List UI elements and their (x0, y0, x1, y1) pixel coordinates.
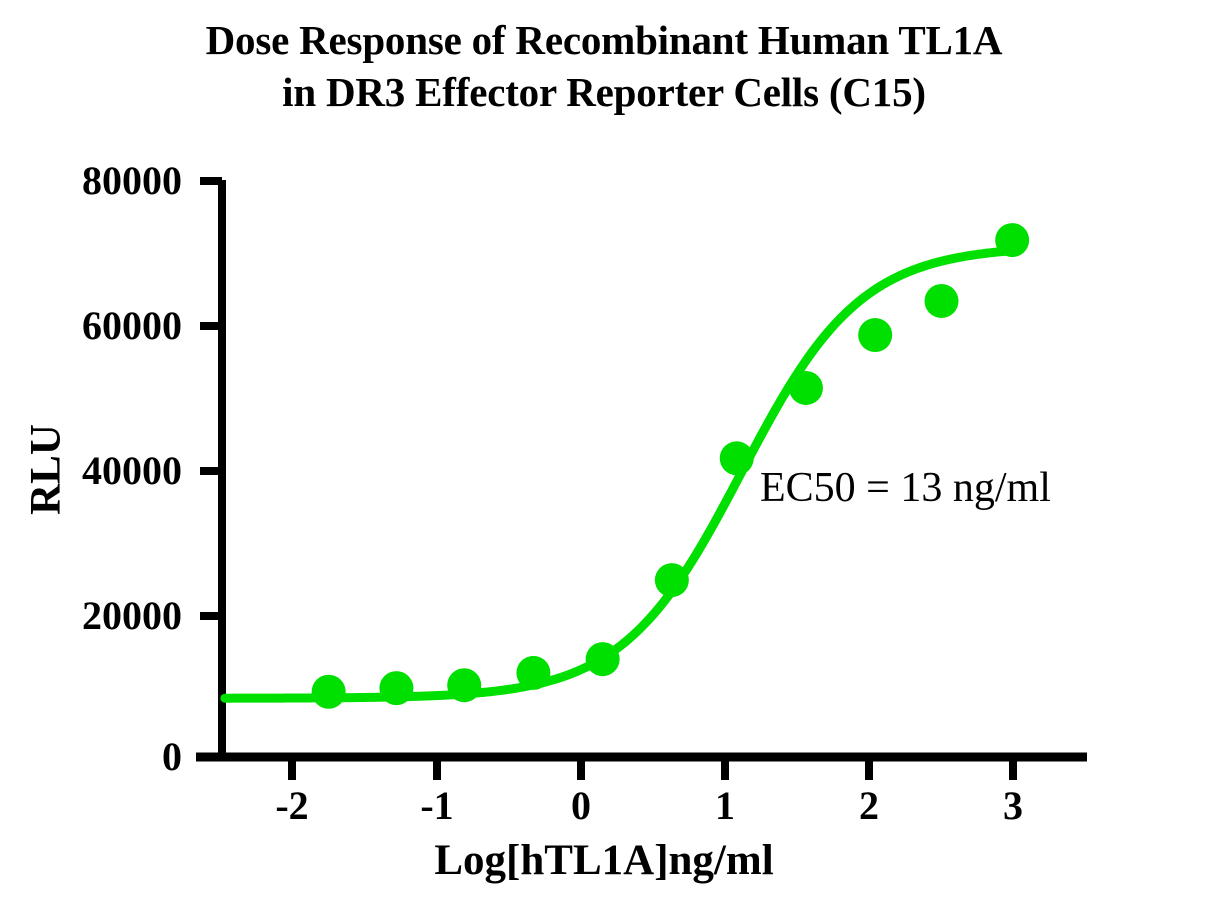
plot-area: 80000 60000 40000 20000 0 RLU -2 -1 0 1 … (0, 0, 1208, 915)
data-point (858, 318, 892, 352)
x-tick-label-1: 1 (685, 786, 765, 826)
x-tick-label-neg1: -1 (397, 786, 477, 826)
data-point (312, 675, 346, 709)
y-tick-label-0: 0 (0, 737, 182, 777)
data-point (655, 563, 689, 597)
data-point (789, 371, 823, 405)
ec50-annotation: EC50 = 13 ng/ml (760, 464, 1051, 512)
x-tick-label-neg2: -2 (252, 786, 332, 826)
data-point (995, 223, 1029, 257)
y-axis-label: RLU (25, 395, 68, 545)
chart-figure: Dose Response of Recombinant Human TL1A … (0, 0, 1208, 915)
data-point (720, 441, 754, 475)
data-point (379, 671, 413, 705)
x-tick-label-3: 3 (973, 786, 1053, 826)
x-axis-label: Log[hTL1A]ng/ml (0, 836, 1208, 886)
data-point (447, 668, 481, 702)
y-tick-label-20000: 20000 (0, 596, 182, 636)
x-tick-label-2: 2 (829, 786, 909, 826)
y-tick-label-80000: 80000 (0, 161, 182, 201)
y-tick-label-60000: 60000 (0, 306, 182, 346)
data-point (925, 284, 959, 318)
x-tick-label-0: 0 (541, 786, 621, 826)
data-point (516, 656, 550, 690)
data-point (586, 642, 620, 676)
